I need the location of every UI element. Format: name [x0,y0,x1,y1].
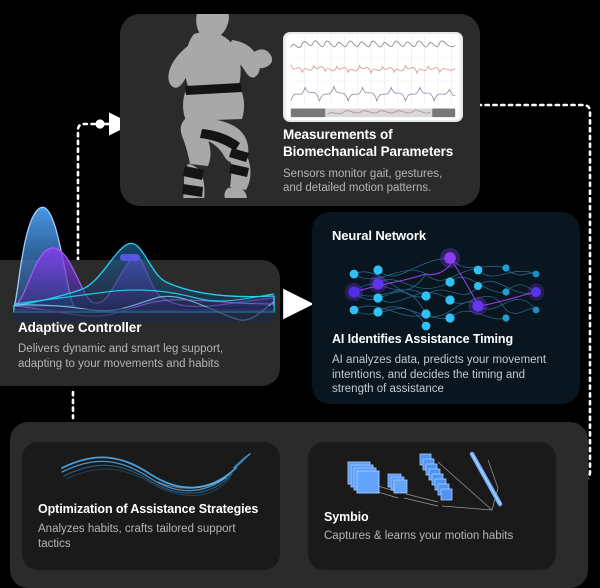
adaptive-description: Delivers dynamic and smart leg support, … [18,342,268,371]
neural-network-heading: Neural Network [332,228,426,243]
neural-desc-line-1: AI analyzes data, predicts your movement [332,354,546,366]
measurements-text-block: Measurements of Biomechanical Parameters… [283,126,473,196]
measurements-title: Measurements of Biomechanical Parameters [283,126,473,161]
waveform-traces [285,34,461,120]
biomechanical-waveform-chart[interactable] [283,32,463,122]
stacked-layers-network-icon [342,448,532,518]
card-optimization-of-assistance-strategies[interactable]: Optimization of Assistance Strategies An… [22,442,280,570]
neural-description: AI analyzes data, predicts your movement… [332,353,570,397]
adaptive-text-block: Adaptive Controller Delivers dynamic and… [18,320,268,371]
card-adaptive-controller[interactable]: Adaptive Controller Delivers dynamic and… [0,260,280,386]
measurements-description: Sensors monitor gait, gestures, and deta… [283,167,473,196]
optimize-text-block: Optimization of Assistance Strategies An… [38,502,274,551]
optimize-description: Analyzes habits, crafts tailored support… [38,522,274,551]
flowing-ribbon-lines-icon [58,452,258,498]
neural-desc-line-3: strength of assistance [332,383,444,395]
card-measurements-of-biomechanical-parameters[interactable]: Measurements of Biomechanical Parameters… [120,14,480,206]
measurements-title-line-2: Biomechanical Parameters [283,144,453,159]
card-symbio[interactable]: Symbio Captures & learns your motion hab… [308,442,556,570]
symbio-description: Captures & learns your motion habits [324,529,550,544]
neural-network-nodes-icon [340,248,555,334]
layered-wave-distribution-chart [0,198,282,320]
measurements-desc-line-2: and detailed motion patterns. [283,182,431,194]
adaptive-title: Adaptive Controller [18,320,268,335]
measurements-desc-line-1: Sensors monitor gait, gestures, [283,168,442,180]
running-athlete-with-sensor-straps-icon [128,14,298,198]
card-neural-network[interactable]: Neural Network [312,212,580,404]
neural-title: AI Identifies Assistance Timing [332,332,570,346]
adaptive-desc-line-2: adapting to your movements and habits [18,358,219,370]
optimize-desc-line-1: Analyzes habits, crafts tailored support [38,523,236,535]
symbio-title: Symbio [324,510,550,524]
infographic-canvas: Measurements of Biomechanical Parameters… [0,0,600,588]
optimize-desc-line-2: tactics [38,538,71,550]
neural-text-block: AI Identifies Assistance Timing AI analy… [332,332,570,397]
adaptive-desc-line-1: Delivers dynamic and smart leg support, [18,343,223,355]
optimize-title: Optimization of Assistance Strategies [38,502,274,516]
neural-desc-line-2: intentions, and decides the timing and [332,369,525,381]
symbio-text-block: Symbio Captures & learns your motion hab… [324,510,550,544]
measurements-title-line-1: Measurements of [283,127,393,142]
